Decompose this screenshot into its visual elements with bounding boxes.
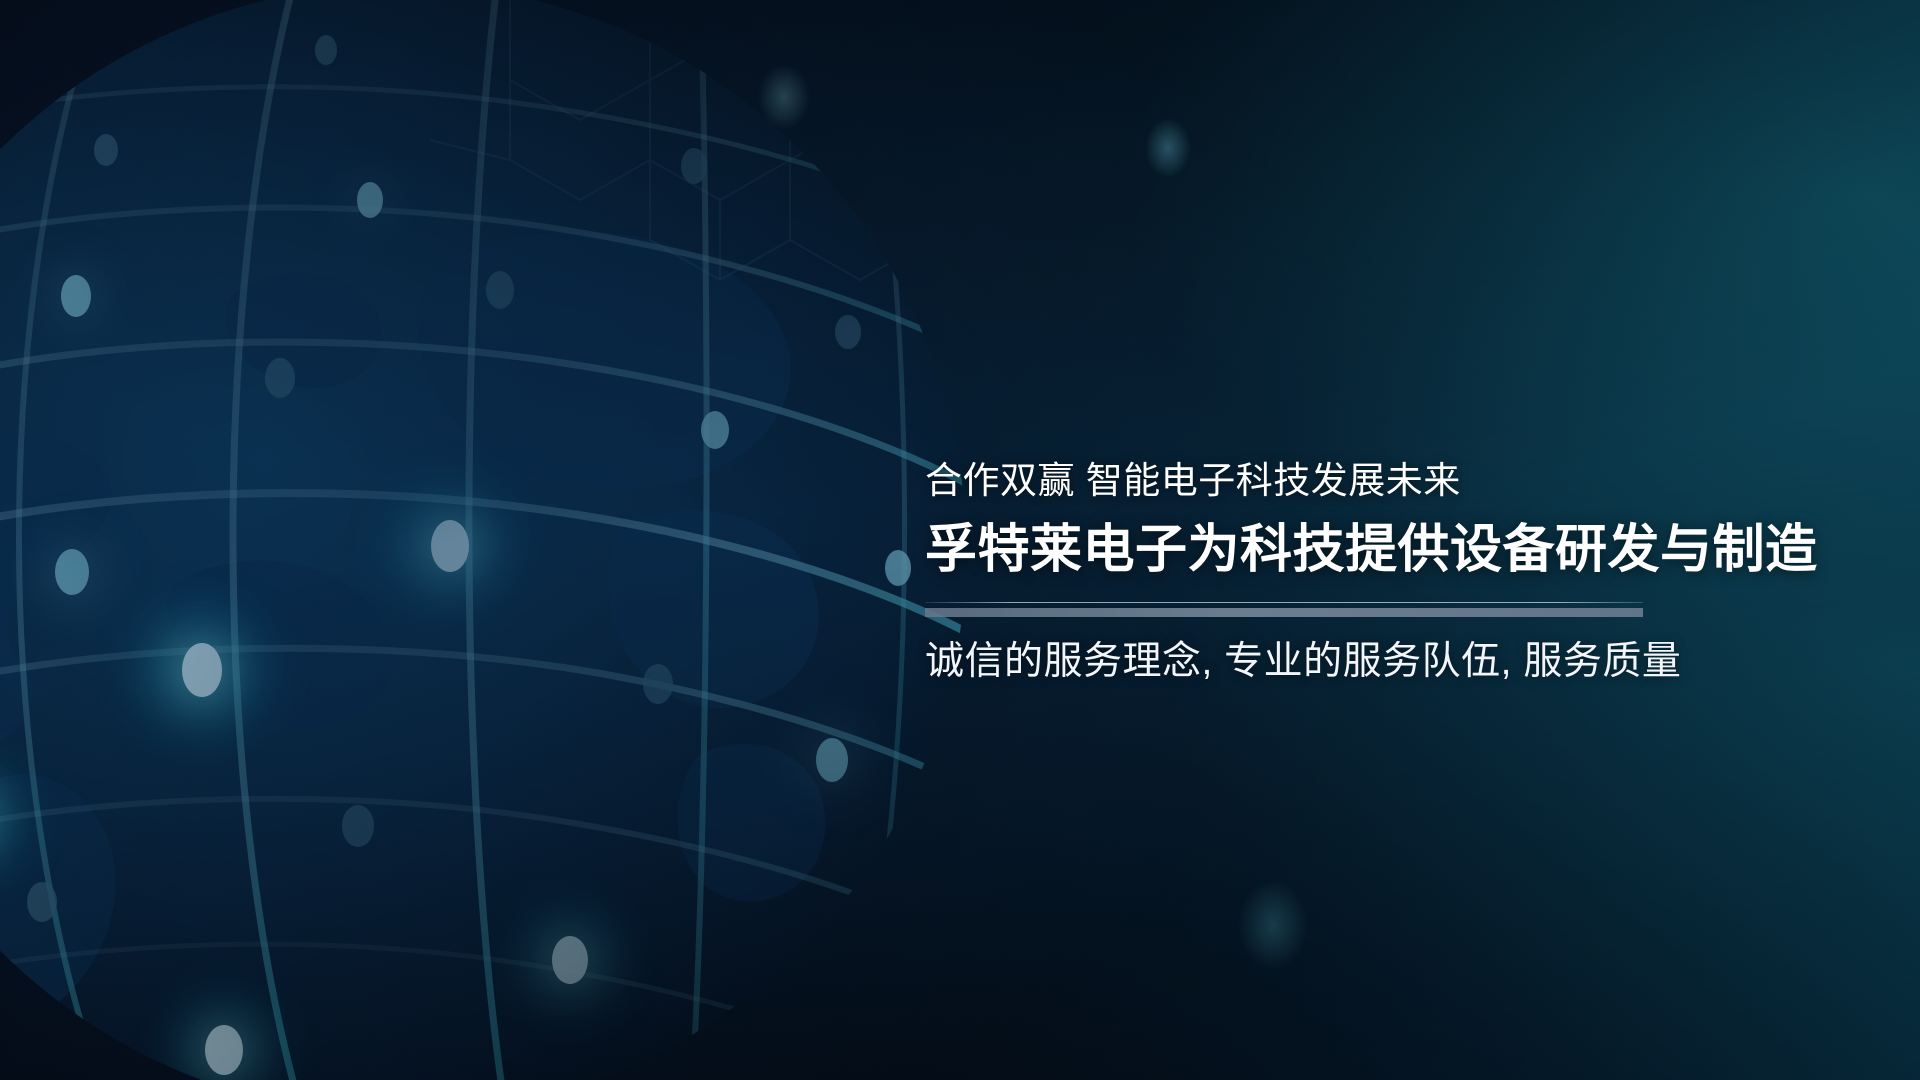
banner-text-block: 合作双赢 智能电子科技发展未来 孚特莱电子为科技提供设备研发与制造 诚信的服务理… [925,462,1855,681]
banner-headline: 孚特莱电子为科技提供设备研发与制造 [925,524,1855,576]
banner-tagline: 诚信的服务理念, 专业的服务队伍, 服务质量 [925,642,1855,681]
banner-eyebrow: 合作双赢 智能电子科技发展未来 [925,462,1855,499]
horizontal-rule-icon [925,602,1643,612]
divider-thin-line [925,602,1643,603]
divider-thick-bar [925,608,1643,617]
promo-banner: 合作双赢 智能电子科技发展未来 孚特莱电子为科技提供设备研发与制造 诚信的服务理… [0,0,1920,1080]
